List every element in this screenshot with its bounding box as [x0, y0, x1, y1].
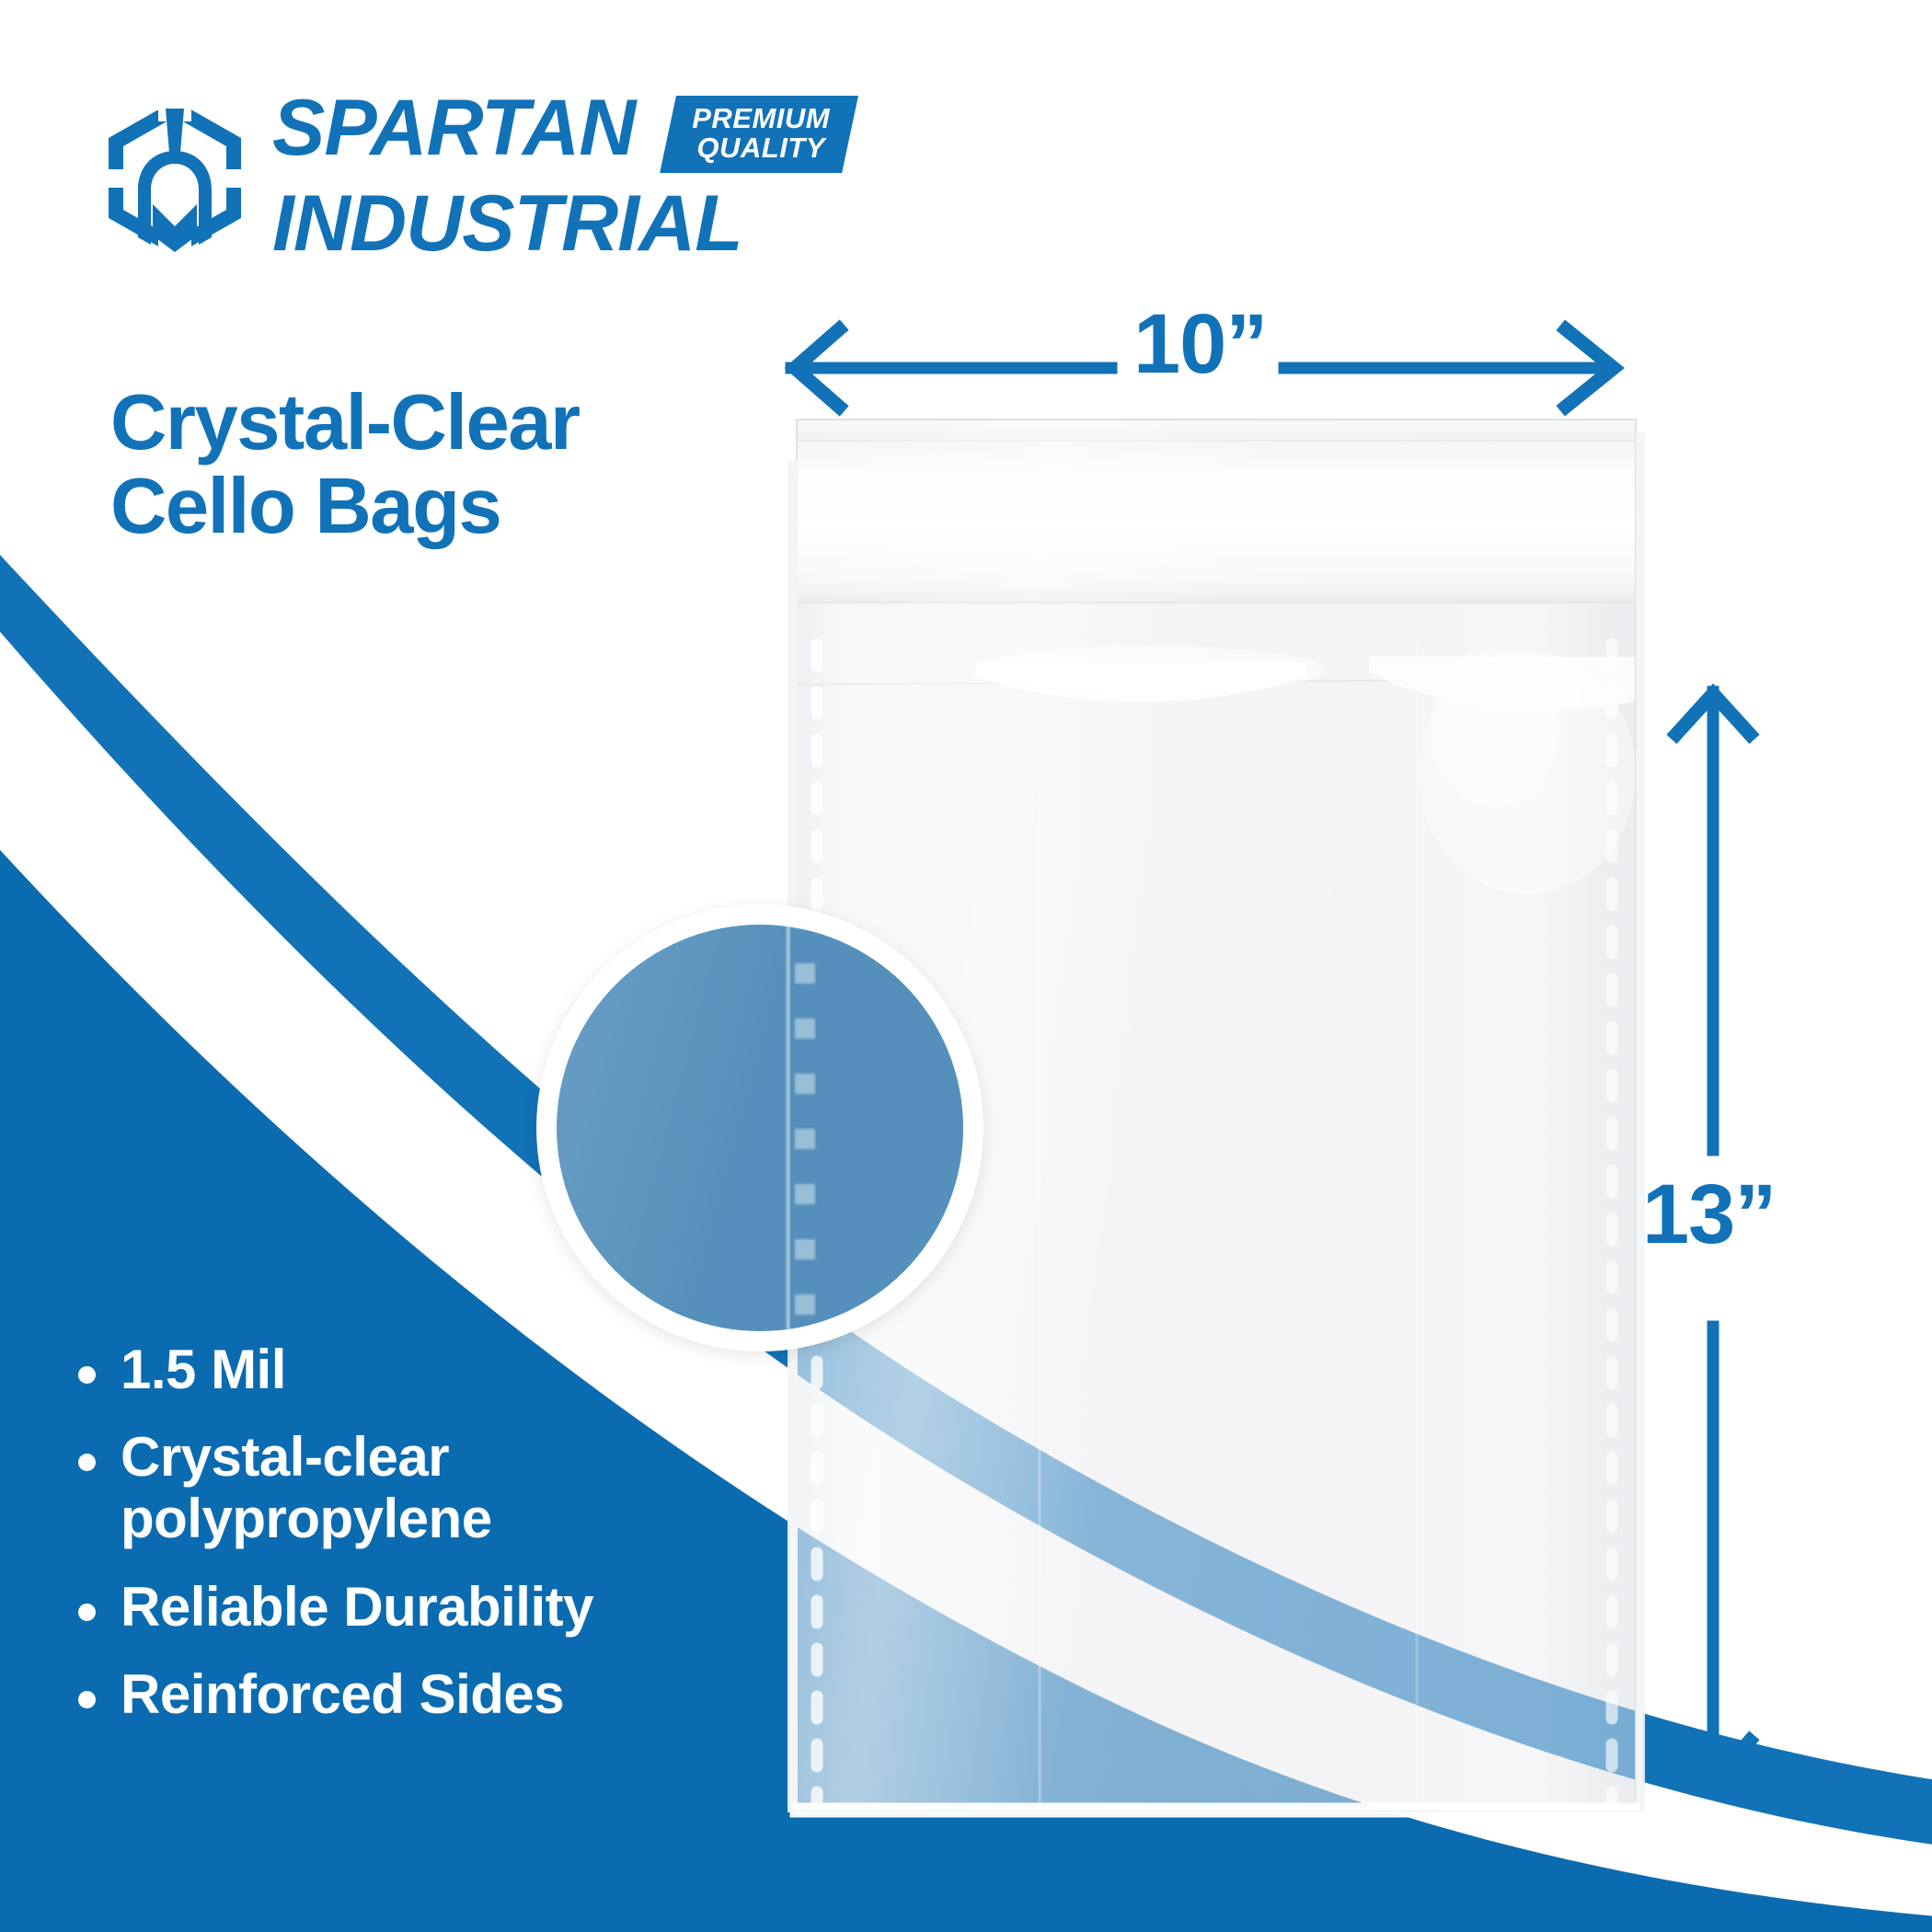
- feature-text: Reinforced Sides: [121, 1663, 800, 1725]
- feature-text: Reliable Durability: [121, 1576, 800, 1638]
- product-infographic: SPARTAN PREMIUM QUALITY INDUSTRIAL Cryst…: [0, 0, 1932, 1932]
- list-item: Reliable Durability: [64, 1576, 800, 1638]
- badge-line-quality: QUALITY: [693, 133, 831, 163]
- detail-magnifier-callout: [536, 904, 983, 1351]
- spartan-helmet-hexagon-icon: [101, 98, 248, 259]
- headline-line1: Crystal-Clear: [110, 382, 580, 466]
- feature-text: 1.5 Mil: [121, 1339, 800, 1400]
- feature-text: Crystal-clear polypropylene: [121, 1426, 800, 1549]
- brand-name-line1: SPARTAN: [272, 92, 635, 165]
- bullet-dot-icon: [78, 1691, 96, 1708]
- brand-header: SPARTAN PREMIUM QUALITY INDUSTRIAL: [101, 92, 850, 261]
- list-item: Crystal-clear polypropylene: [64, 1426, 800, 1549]
- list-item: Reinforced Sides: [64, 1663, 800, 1725]
- badge-line-premium: PREMIUM: [693, 104, 831, 133]
- bullet-dot-icon: [78, 1604, 96, 1621]
- brand-name-line2: INDUSTRIAL: [272, 188, 850, 260]
- page-title: Crystal-Clear Cello Bags: [110, 382, 580, 549]
- list-item: 1.5 Mil: [64, 1339, 800, 1400]
- feature-list: 1.5 Mil Crystal-clear polypropylene Reli…: [64, 1339, 800, 1751]
- bullet-dot-icon: [78, 1454, 96, 1471]
- bullet-dot-icon: [78, 1366, 96, 1384]
- premium-quality-badge: PREMIUM QUALITY: [660, 96, 858, 173]
- magnifier-lens: [557, 925, 963, 1331]
- headline-line2: Cello Bags: [110, 466, 580, 549]
- lens-shine: [557, 925, 800, 1331]
